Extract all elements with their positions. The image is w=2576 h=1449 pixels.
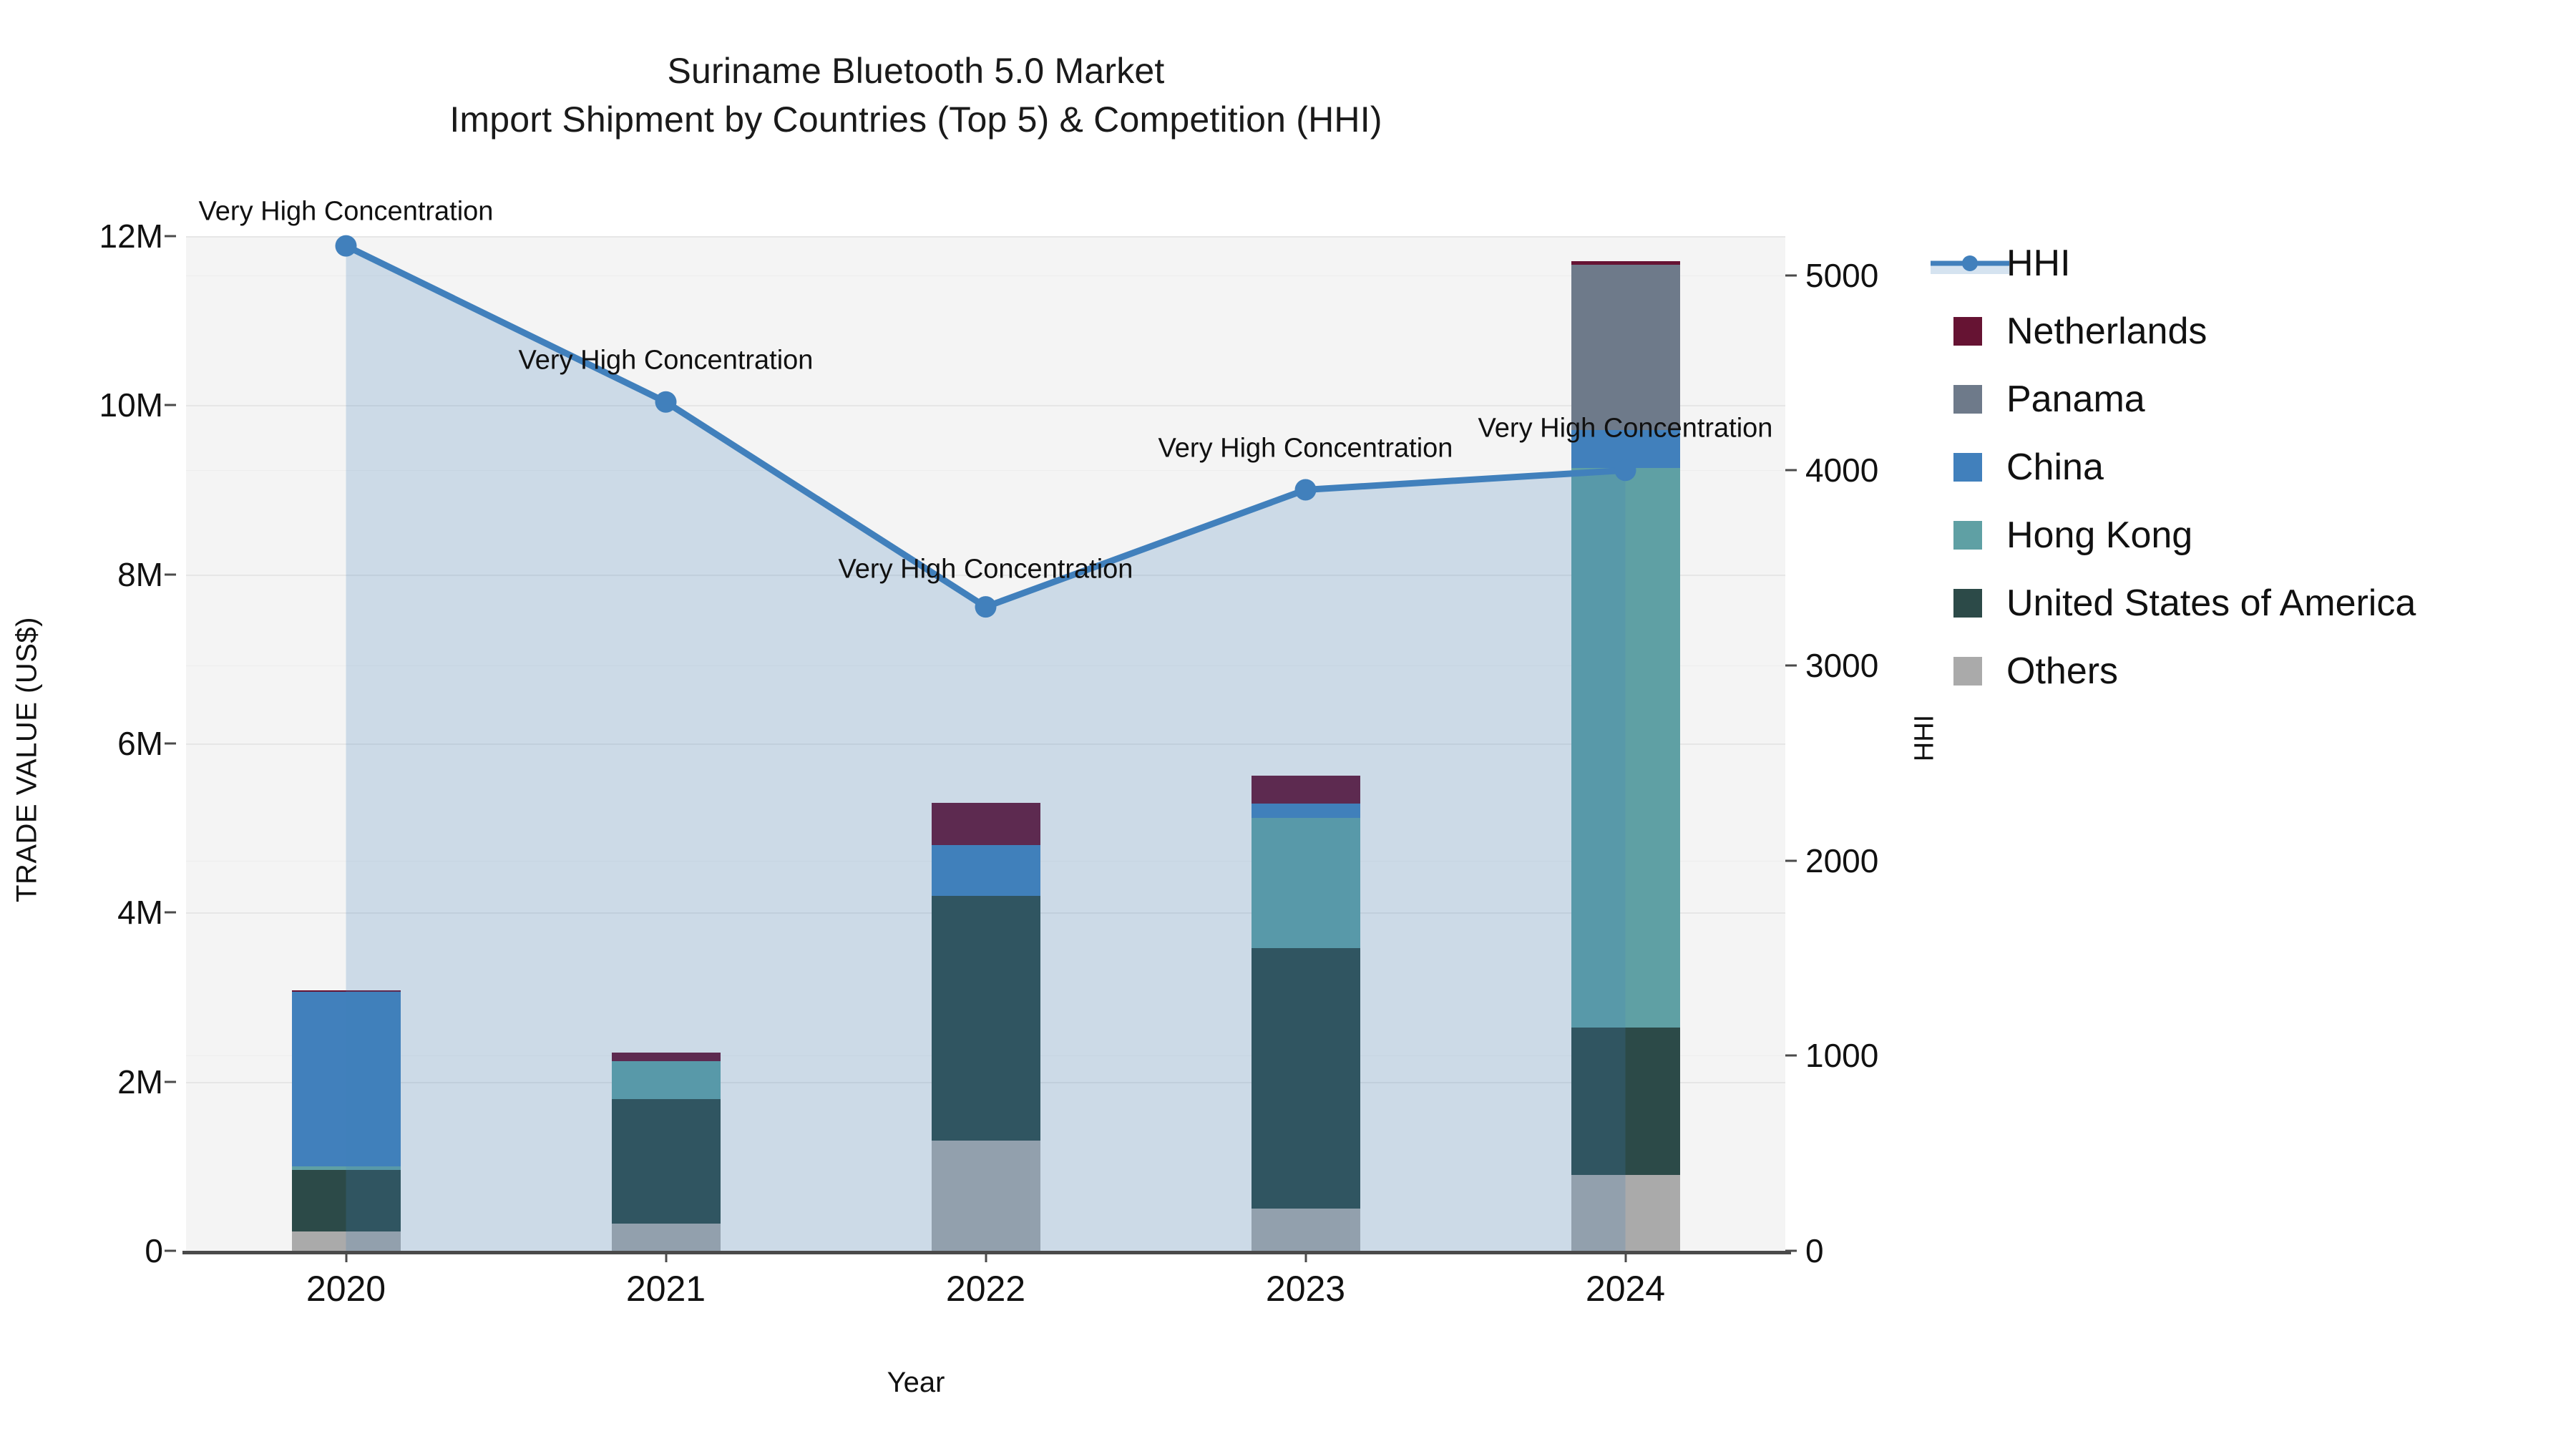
- gridline-minor: [186, 470, 1785, 471]
- y-axis-left-tick-label: 0: [145, 1231, 163, 1270]
- x-axis-tick-label: 2021: [626, 1268, 706, 1309]
- legend-item-label: Hong Kong: [2006, 514, 2192, 557]
- gridline-minor: [186, 665, 1785, 666]
- x-axis-tick-mark: [1624, 1251, 1626, 1262]
- bar-segment: [1571, 1028, 1680, 1175]
- y-axis-left-tick-label: 12M: [99, 217, 163, 255]
- hhi-annotation-label: Very High Concentration: [1478, 414, 1773, 444]
- legend: HHINetherlandsPanamaChinaHong KongUnited…: [1953, 229, 2576, 705]
- y-axis-right-tick-mark: [1785, 469, 1797, 472]
- bar-segment: [1252, 818, 1360, 948]
- chart-title: Suriname Bluetooth 5.0 Market Import Shi…: [0, 47, 1832, 144]
- gridline: [186, 743, 1785, 745]
- legend-color-swatch: [1953, 657, 1982, 686]
- y-axis-right-label: HHI: [1910, 645, 1941, 831]
- bar-segment: [292, 992, 401, 1166]
- legend-item[interactable]: Netherlands: [1953, 297, 2576, 365]
- y-axis-right-tick-mark: [1785, 274, 1797, 276]
- y-axis-left-tick-mark: [165, 573, 176, 575]
- gridline: [186, 405, 1785, 406]
- bar-segment: [1252, 1209, 1360, 1251]
- y-axis-right-tick-label: 1000: [1805, 1036, 1878, 1075]
- gridline-minor: [186, 275, 1785, 276]
- bar-segment: [612, 1053, 721, 1061]
- legend-item-label: HHI: [2006, 242, 2071, 285]
- x-axis-tick-mark: [1304, 1251, 1307, 1262]
- y-axis-left-tick-label: 8M: [117, 555, 163, 594]
- hhi-annotation-label: Very High Concentration: [1158, 433, 1453, 464]
- bar-segment: [1252, 776, 1360, 804]
- bar-segment: [292, 1170, 401, 1231]
- chart-title-line-2: Import Shipment by Countries (Top 5) & C…: [0, 96, 1832, 145]
- bar-segment: [292, 1166, 401, 1170]
- legend-item[interactable]: China: [1953, 433, 2576, 501]
- y-axis-left-tick-mark: [165, 235, 176, 238]
- y-axis-right-tick-label: 0: [1805, 1231, 1824, 1270]
- legend-item-label: United States of America: [2006, 582, 2416, 625]
- x-axis-line: [182, 1251, 1791, 1254]
- bar-segment: [932, 845, 1040, 896]
- y-axis-left-tick-mark: [165, 1080, 176, 1083]
- x-axis-tick-mark: [345, 1251, 347, 1262]
- bar-segment: [612, 1099, 721, 1224]
- legend-color-swatch: [1953, 317, 1982, 346]
- y-axis-right-tick-mark: [1785, 859, 1797, 862]
- y-axis-left-tick-mark: [165, 912, 176, 914]
- y-axis-left-tick-label: 6M: [117, 724, 163, 763]
- y-axis-right-tick-mark: [1785, 664, 1797, 666]
- legend-item-label: Others: [2006, 650, 2118, 693]
- x-axis-label: Year: [0, 1367, 1832, 1399]
- y-axis-right-tick-label: 4000: [1805, 451, 1878, 489]
- y-axis-left-tick-mark: [165, 1250, 176, 1252]
- legend-item[interactable]: United States of America: [1953, 569, 2576, 637]
- x-axis-tick-label: 2023: [1266, 1268, 1345, 1309]
- bar-segment: [932, 803, 1040, 845]
- bar-segment: [1571, 261, 1680, 265]
- y-axis-right-tick-label: 3000: [1805, 646, 1878, 685]
- hhi-annotation-label: Very High Concentration: [199, 196, 494, 227]
- bar-segment: [612, 1061, 721, 1099]
- legend-item[interactable]: Others: [1953, 637, 2576, 705]
- bar-segment: [292, 1231, 401, 1251]
- bar-segment: [292, 990, 401, 992]
- x-axis-tick-label: 2020: [306, 1268, 386, 1309]
- y-axis-right-tick-label: 2000: [1805, 841, 1878, 880]
- legend-item-label: Panama: [2006, 378, 2145, 421]
- bar-segment: [612, 1224, 721, 1251]
- x-axis-tick-label: 2024: [1586, 1268, 1665, 1309]
- y-axis-right-tick-mark: [1785, 1055, 1797, 1057]
- legend-item[interactable]: Hong Kong: [1953, 501, 2576, 569]
- bar-segment: [1252, 948, 1360, 1209]
- legend-item[interactable]: HHI: [1953, 229, 2576, 297]
- y-axis-right-tick-label: 5000: [1805, 256, 1878, 295]
- legend-color-swatch: [1953, 453, 1982, 482]
- x-axis-tick-mark: [985, 1251, 987, 1262]
- legend-color-swatch: [1953, 521, 1982, 550]
- y-axis-left-tick-label: 2M: [117, 1063, 163, 1101]
- legend-item-label: China: [2006, 446, 2104, 489]
- hhi-annotation-label: Very High Concentration: [519, 345, 814, 376]
- gridline: [186, 236, 1785, 238]
- legend-line-sample: [1953, 249, 1982, 278]
- bar-segment: [932, 896, 1040, 1141]
- legend-color-swatch: [1953, 589, 1982, 618]
- chart-title-line-1: Suriname Bluetooth 5.0 Market: [0, 47, 1832, 96]
- bar-segment: [1252, 804, 1360, 818]
- x-axis-tick-label: 2022: [946, 1268, 1025, 1309]
- y-axis-right: 010002000300040005000: [1785, 0, 2000, 1449]
- legend-item-label: Netherlands: [2006, 310, 2207, 353]
- bar-segment: [1571, 265, 1680, 429]
- bar-segment: [932, 1141, 1040, 1251]
- legend-item[interactable]: Panama: [1953, 365, 2576, 433]
- bar-segment: [1571, 1175, 1680, 1251]
- x-axis-tick-mark: [665, 1251, 667, 1262]
- legend-color-swatch: [1953, 385, 1982, 414]
- y-axis-left-label: TRADE VALUE (US$): [11, 581, 44, 939]
- y-axis-left-tick-label: 4M: [117, 893, 163, 932]
- hhi-annotation-label: Very High Concentration: [839, 555, 1133, 585]
- y-axis-left-tick-label: 10M: [99, 386, 163, 424]
- bar-segment: [1571, 468, 1680, 1028]
- y-axis-left-tick-mark: [165, 404, 176, 406]
- y-axis-left-tick-mark: [165, 743, 176, 745]
